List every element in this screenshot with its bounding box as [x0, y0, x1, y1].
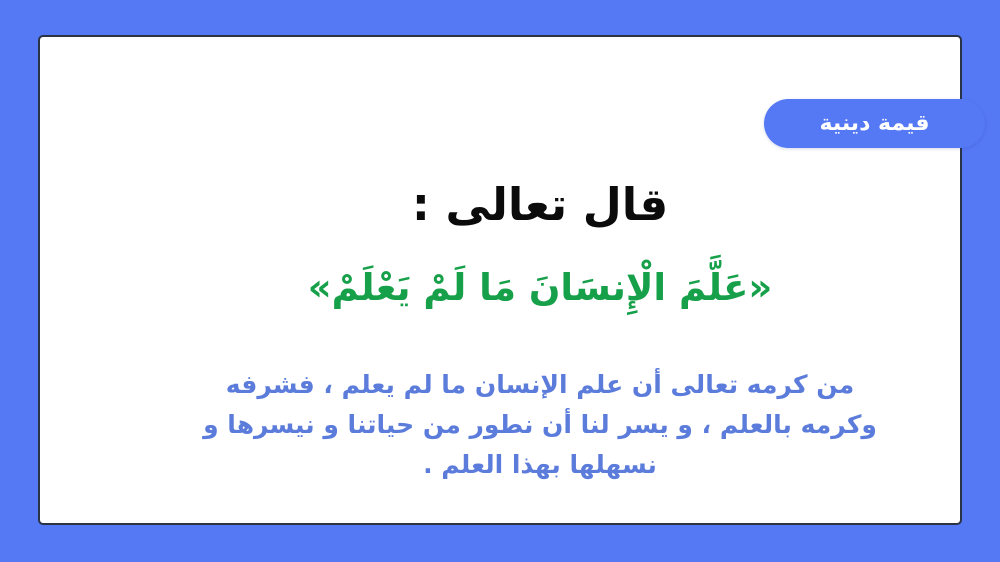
slide-canvas: قيمة دينية قال تعالى : «عَلَّمَ الْإِنسَ… [0, 0, 1000, 562]
quran-verse-text: «عَلَّمَ الْإِنسَانَ مَا لَمْ يَعْلَمْ» [78, 264, 1000, 312]
content-card: قيمة دينية قال تعالى : «عَلَّمَ الْإِنسَ… [38, 35, 962, 525]
status-badge-label: قيمة دينية [820, 113, 930, 135]
body-line: من كرمه تعالى أن علم الإنسان ما لم يعلم … [170, 365, 910, 405]
status-badge[interactable]: قيمة دينية [764, 99, 985, 148]
body-line: وكرمه بالعلم ، و يسر لنا أن نطور من حيات… [170, 405, 910, 445]
body-line: نسهلها بهذا العلم . [170, 445, 910, 485]
page-title: قال تعالى : [78, 179, 1000, 231]
body-paragraph: من كرمه تعالى أن علم الإنسان ما لم يعلم … [170, 365, 910, 485]
